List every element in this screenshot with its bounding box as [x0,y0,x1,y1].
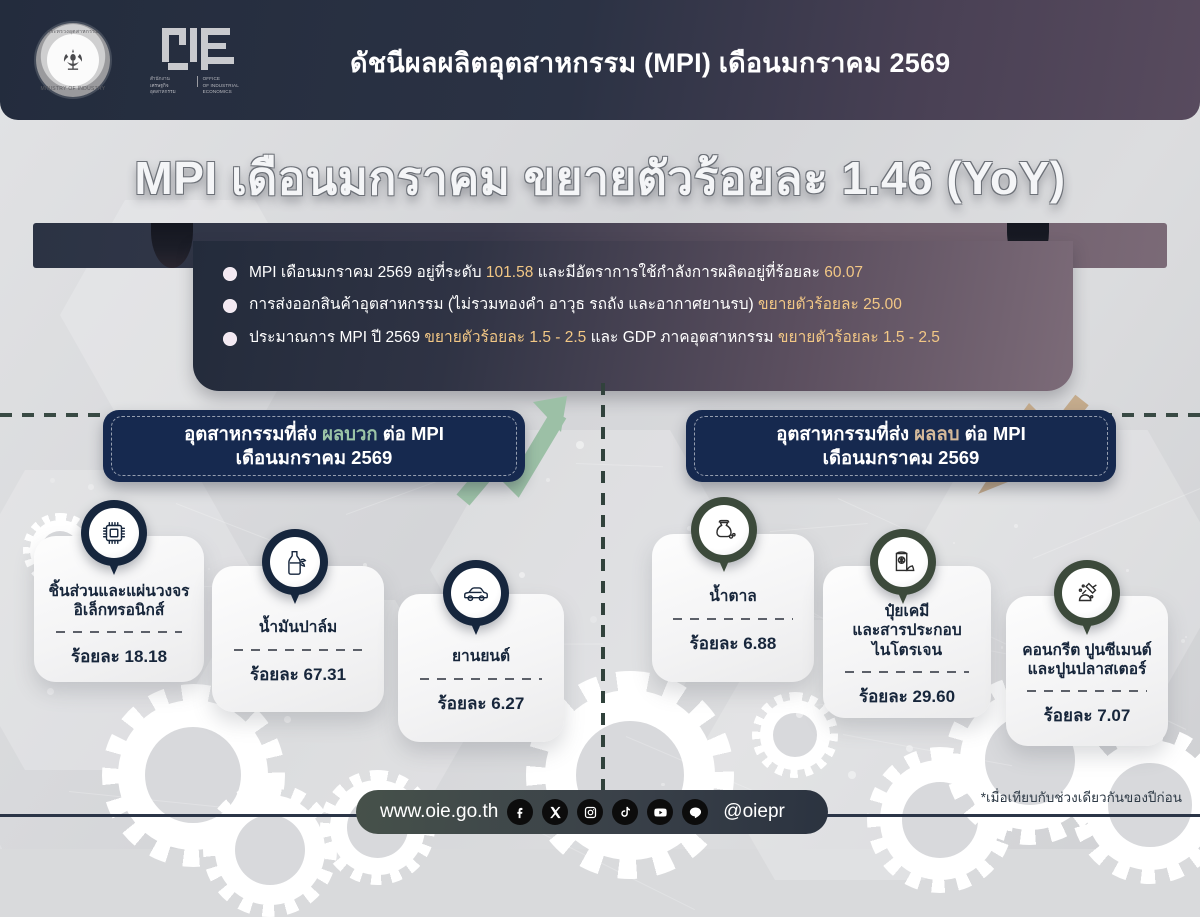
ministry-of-industry-logo: กระทรวงอุตสาหกรรม MINISTRY OF INDUSTRY [36,23,110,97]
microchip-icon [89,508,139,558]
summary-bullet-list: MPI เดือนมกราคม 2569 อยู่ที่ระดับ 101.58… [223,263,1047,347]
bullet-plain-text: ประมาณการ MPI ปี 2569 [249,329,424,346]
bullet-highlight-value: ขยายตัวร้อยละ 1.5 - 2.5 [778,329,940,346]
card-divider [673,618,793,620]
card-divider [845,671,969,673]
cement-trowel-icon [1062,568,1112,618]
tiktok-icon[interactable] [612,799,638,825]
decorative-dot [165,818,168,821]
oie-logo: สำนักงาน เศรษฐกิจอุตสาหกรรม OFFICE OF IN… [150,26,265,96]
page-header: กระทรวงอุตสาหกรรม MINISTRY OF INDUSTRY [0,0,1200,120]
gear-icon [545,690,715,860]
footer-social-handle[interactable]: @oiepr [723,801,785,823]
bullet-highlight-value: 101.58 [486,264,533,281]
summary-panel-body: MPI เดือนมกราคม 2569 อยู่ที่ระดับ 101.58… [193,241,1073,391]
oie-caption-en: OFFICE OF INDUSTRIAL ECONOMICS [203,76,265,95]
seal-top-text: กระทรวงอุตสาหกรรม [36,28,110,36]
car-icon [451,568,501,618]
line-icon[interactable] [682,799,708,825]
industry-card-value: ร้อยละ 7.07 [1044,702,1131,729]
decorative-dot [1095,754,1097,756]
summary-bullet-item: การส่งออกสินค้าอุตสาหกรรม (ไม่รวมทองคำ อ… [223,295,1047,314]
positive-suffix: ต่อ MPI [378,423,444,444]
footer-website-link[interactable]: www.oie.go.th [380,801,498,823]
fertilizer-bag-icon [878,537,928,587]
gear-icon [760,700,830,770]
x-icon[interactable] [542,799,568,825]
seal-bottom-text: MINISTRY OF INDUSTRY [36,86,110,92]
summary-bullet-text: การส่งออกสินค้าอุตสาหกรรม (ไม่รวมทองคำ อ… [249,295,902,314]
card-divider [234,649,361,651]
seal-emblem-icon [47,34,99,86]
decorative-dot [284,716,291,723]
youtube-icon[interactable] [647,799,673,825]
bullet-dot-icon [223,299,237,313]
industry-card-name: น้ำตาล [709,587,757,606]
industry-card-name: คอนกรีต ปูนซีเมนต์และปูนปลาสเตอร์ [1022,641,1152,680]
industry-card-pin [691,497,757,563]
industry-card-value: ร้อยละ 67.31 [250,661,346,688]
facebook-icon[interactable] [507,799,533,825]
sugar-sack-icon [699,505,749,555]
industry-card-name: ยานยนต์ [452,647,510,666]
footer-contact-bar: www.oie.go.th @oiepr [356,790,828,834]
industry-card-pin [443,560,509,626]
summary-bullet-item: MPI เดือนมกราคม 2569 อยู่ที่ระดับ 101.58… [223,263,1047,282]
footnote: *เมื่อเทียบกับช่วงเดียวกันของปีก่อน [981,786,1182,808]
bullet-highlight-value: ขยายตัวร้อยละ 1.5 - 2.5 [424,329,586,346]
industry-card-pin [262,529,328,595]
summary-bullet-text: ประมาณการ MPI ปี 2569 ขยายตัวร้อยละ 1.5 … [249,328,940,347]
industry-card-pin [1054,560,1120,626]
bullet-highlight-value: 60.07 [824,264,863,281]
oie-mark-icon [162,26,254,72]
industry-card-value: ร้อยละ 18.18 [71,643,167,670]
industry-card-value: ร้อยละ 6.88 [690,630,777,657]
industry-card-value: ร้อยละ 6.27 [438,690,525,717]
industry-card-name: ชิ้นส่วนและแผ่นวงจรอิเล็กทรอนิกส์ [48,582,189,621]
bullet-dot-icon [223,332,237,346]
summary-panel: MPI เดือนมกราคม 2569 อยู่ที่ระดับ 101.58… [33,223,1167,383]
bullet-plain-text: การส่งออกสินค้าอุตสาหกรรม (ไม่รวมทองคำ อ… [249,296,758,313]
summary-bullet-item: ประมาณการ MPI ปี 2569 ขยายตัวร้อยละ 1.5 … [223,328,1047,347]
decorative-dot [661,783,665,787]
divider-dashed-vertical [601,383,605,815]
positive-keyword: ผลบวก [322,423,378,444]
industry-card-value: ร้อยละ 29.60 [859,683,955,710]
negative-prefix: อุตสาหกรรมที่ส่ง [776,423,914,444]
decorative-dot [1001,646,1003,648]
page-title: ดัชนีผลผลิตอุตสาหกรรม (MPI) เดือนมกราคม … [350,41,1050,84]
decorative-dot [590,616,597,623]
decorative-dot [576,441,584,449]
negative-keyword: ผลลบ [914,423,959,444]
card-divider [56,631,182,633]
category-banner-negative: อุตสาหกรรมที่ส่ง ผลลบ ต่อ MPI เดือนมกราค… [686,410,1116,482]
card-divider [1027,690,1147,692]
positive-line2: เดือนมกราคม 2569 [236,447,393,468]
bullet-plain-text: และมีอัตราการใช้กำลังการผลิตอยู่ที่ร้อยล… [533,264,824,281]
industry-card-name: ปุ๋ยเคมีและสารประกอบไนโตรเจน [823,602,991,660]
negative-line2: เดือนมกราคม 2569 [823,447,980,468]
oil-bottle-icon [270,537,320,587]
oie-caption-divider [197,76,198,87]
industry-card-pin [870,529,936,595]
decorative-dot [88,484,94,490]
oie-caption-th: สำนักงาน เศรษฐกิจอุตสาหกรรม [150,76,192,95]
positive-prefix: อุตสาหกรรมที่ส่ง [184,423,322,444]
card-divider [420,678,543,680]
instagram-icon[interactable] [577,799,603,825]
bullet-dot-icon [223,267,237,281]
decorative-dot [848,771,856,779]
bullet-plain-text: และ GDP ภาคอุตสาหกรรม [586,329,778,346]
negative-suffix: ต่อ MPI [959,423,1025,444]
summary-bullet-text: MPI เดือนมกราคม 2569 อยู่ที่ระดับ 101.58… [249,263,863,282]
category-banner-positive: อุตสาหกรรมที่ส่ง ผลบวก ต่อ MPI เดือนมกรา… [103,410,525,482]
industry-card-pin [81,500,147,566]
bullet-plain-text: MPI เดือนมกราคม 2569 อยู่ที่ระดับ [249,264,486,281]
industry-card-name: น้ำมันปาล์ม [259,618,337,637]
decorative-dot [796,711,803,718]
bullet-highlight-value: ขยายตัวร้อยละ 25.00 [758,296,902,313]
decorative-dot [1126,569,1128,571]
hero-headline: MPI เดือนมกราคม ขยายตัวร้อยละ 1.46 (YoY) [0,142,1200,215]
